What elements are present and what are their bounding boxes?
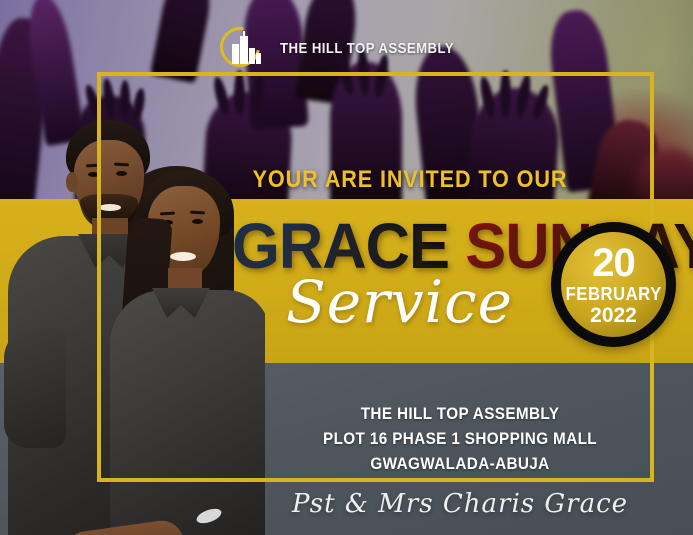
date-day: 20 <box>592 243 635 283</box>
date-month: FEBRUARY <box>565 285 661 303</box>
address-line-1: THE HILL TOP ASSEMBLY <box>280 404 640 424</box>
event-date-badge: 20 FEBRUARY 2022 <box>551 222 676 347</box>
pastors-signature: Pst & Mrs Charis Grace <box>250 489 670 519</box>
brand-name: THE HILL TOP ASSEMBLY <box>280 40 454 57</box>
address-line-2: PLOT 16 PHASE 1 SHOPPING MALL <box>280 429 640 449</box>
brand-header: THE HILL TOP ASSEMBLY <box>0 26 693 70</box>
address-line-3: GWAGWALADA-ABUJA <box>280 454 640 474</box>
church-skyline-arc-logo-icon <box>216 26 268 70</box>
headline-script-service: Service <box>286 268 513 336</box>
venue-address-block: THE HILL TOP ASSEMBLY PLOT 16 PHASE 1 SH… <box>260 404 660 474</box>
date-year: 2022 <box>590 305 637 326</box>
invitation-line: YOUR ARE INVITED TO OUR <box>221 166 599 194</box>
church-event-flyer: THE HILL TOP ASSEMBLY YOUR ARE INVITED T… <box>0 0 693 535</box>
